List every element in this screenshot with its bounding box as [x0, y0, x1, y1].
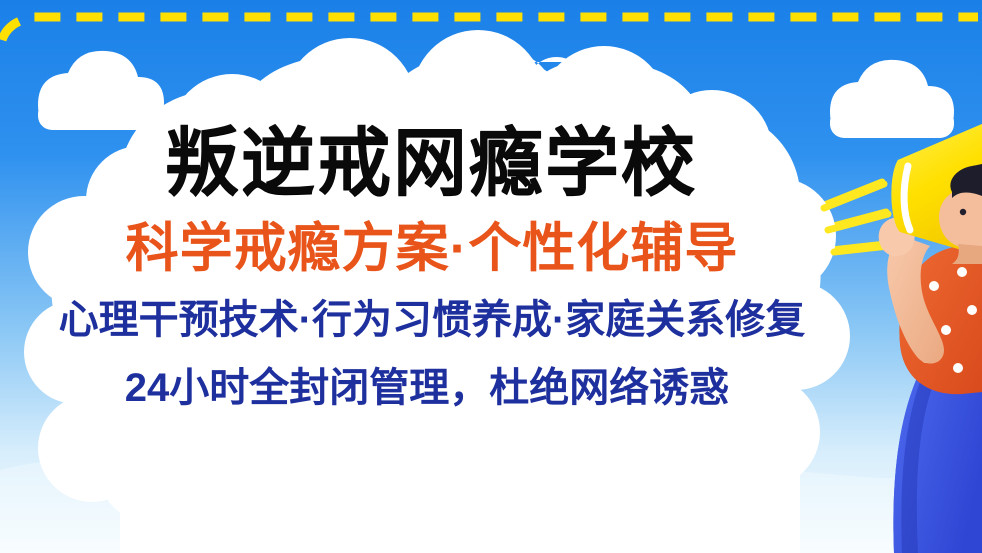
poster-management-line: 24小时全封闭管理，杜绝网络诱惑 [125, 368, 730, 408]
poster-features-line: 心理干预技术·行为习惯养成·家庭关系修复 [59, 300, 806, 340]
poster-text-block: 叛逆戒网瘾学校 科学戒瘾方案·个性化辅导 心理干预技术·行为习惯养成·家庭关系修… [0, 0, 982, 553]
poster-canvas: 叛逆戒网瘾学校 科学戒瘾方案·个性化辅导 心理干预技术·行为习惯养成·家庭关系修… [0, 0, 982, 553]
page-title: 叛逆戒网瘾学校 [165, 126, 697, 200]
poster-subtitle: 科学戒瘾方案·个性化辅导 [126, 222, 739, 275]
